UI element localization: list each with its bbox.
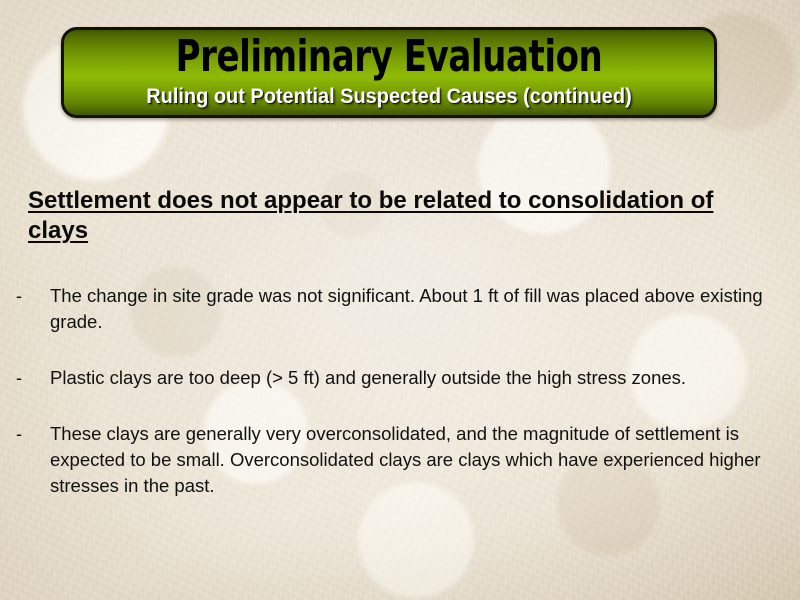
list-item-text: The change in site grade was not signifi… [50, 283, 768, 335]
title-banner: Preliminary Evaluation Ruling out Potent… [61, 27, 717, 118]
list-item-text: These clays are generally very overconso… [50, 421, 768, 499]
list-item: - These clays are generally very overcon… [16, 421, 784, 499]
bullet-dash-marker: - [16, 283, 50, 309]
list-item-text: Plastic clays are too deep (> 5 ft) and … [50, 365, 768, 391]
list-item: - Plastic clays are too deep (> 5 ft) an… [16, 365, 784, 391]
slide-title: Preliminary Evaluation [110, 31, 669, 83]
body-heading: Settlement does not appear to be related… [28, 186, 764, 246]
bullet-dash-marker: - [16, 421, 50, 447]
slide-canvas: Preliminary Evaluation Ruling out Potent… [0, 0, 800, 600]
bullet-dash-marker: - [16, 365, 50, 391]
bullet-list: - The change in site grade was not signi… [16, 283, 784, 499]
list-item: - The change in site grade was not signi… [16, 283, 784, 335]
slide-subtitle: Ruling out Potential Suspected Causes (c… [80, 84, 698, 110]
